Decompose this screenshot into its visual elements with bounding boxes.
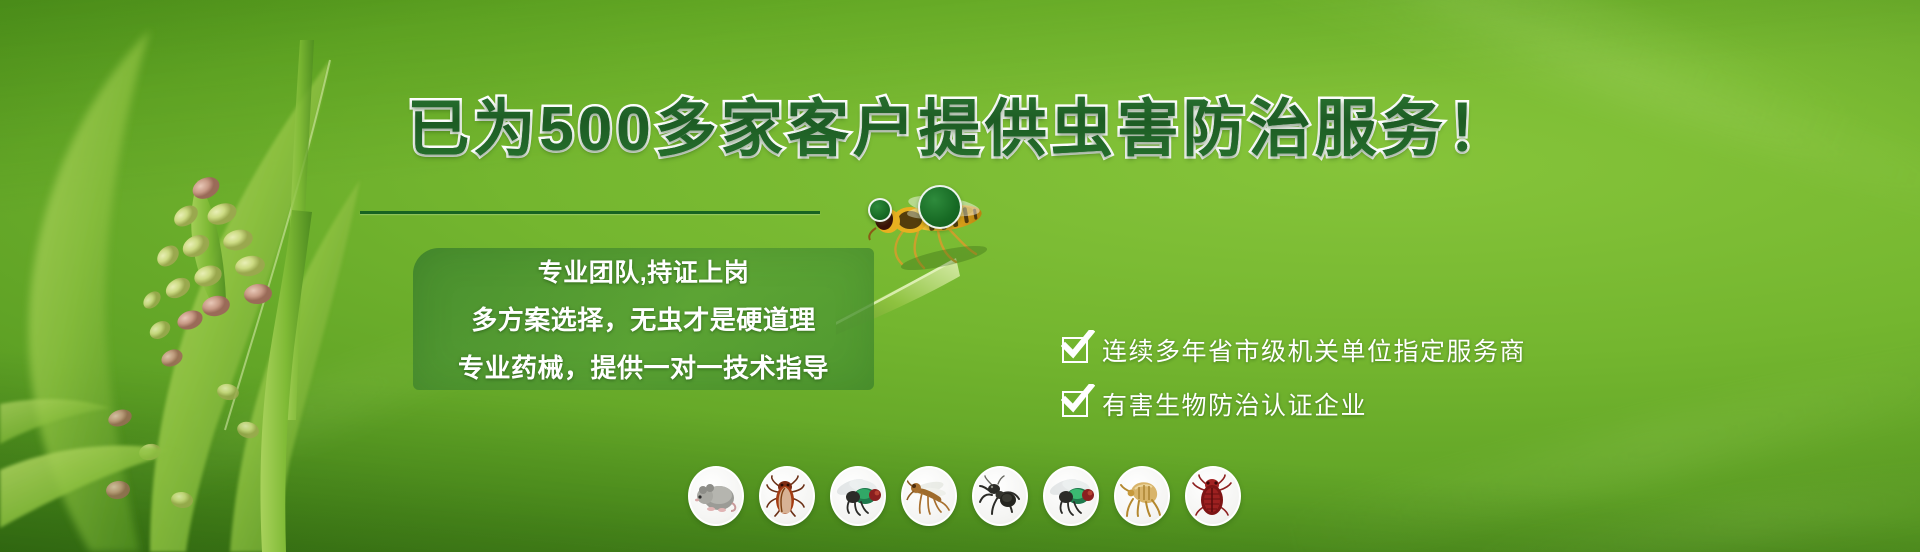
promo-banner: 已为500多家客户提供虫害防治服务！ 已为500多家客户提供虫害防治服务！ 专业…: [0, 0, 1920, 552]
fly-icon: [830, 466, 886, 526]
feature-panel-line: 专业团队,持证上岗: [538, 253, 749, 289]
page-headline: 已为500多家客户提供虫害防治服务！: [0, 78, 1920, 168]
horizontal-rule-icon: [360, 211, 820, 214]
feature-panel-line: 专业药械，提供一对一技术指导: [458, 348, 829, 385]
cockroach-icon: [759, 466, 815, 526]
credentials-checklist: 连续多年省市级机关单位指定服务商 有害生物防治认证企业: [1062, 332, 1526, 422]
feature-panel-line: 多方案选择，无虫才是硬道理: [471, 300, 816, 337]
feature-panel-text: 专业团队,持证上岗 多方案选择，无虫才是硬道理 专业药械，提供一对一技术指导: [413, 248, 874, 390]
ant-icon: [972, 466, 1028, 526]
flea-icon: [1114, 466, 1170, 526]
mosquito-icon: [901, 466, 957, 526]
mouse-icon: [688, 466, 744, 526]
list-item: 有害生物防治认证企业: [1062, 386, 1526, 422]
list-item-label: 连续多年省市级机关单位指定服务商: [1102, 332, 1526, 368]
checkbox-checked-icon: [1062, 337, 1088, 363]
decorative-dot-large-icon: [918, 185, 962, 229]
bedbug-icon: [1185, 466, 1241, 526]
pest-icon-row: [688, 466, 1241, 526]
decorative-dot-small-icon: [868, 198, 892, 222]
checkbox-checked-icon: [1062, 391, 1088, 417]
list-item: 连续多年省市级机关单位指定服务商: [1062, 332, 1526, 368]
list-item-label: 有害生物防治认证企业: [1102, 386, 1367, 422]
blowfly-icon: [1043, 466, 1099, 526]
